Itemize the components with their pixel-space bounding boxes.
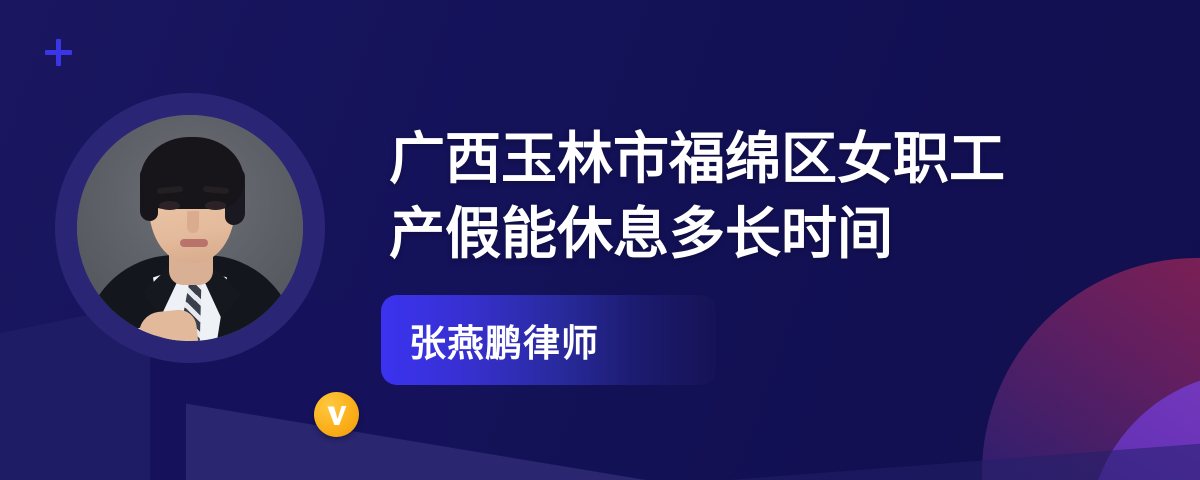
portrait-eye-left (159, 201, 180, 210)
verified-v-icon (314, 392, 359, 437)
avatar-photo (77, 115, 303, 341)
plus-icon-bar-vertical (56, 39, 61, 66)
avatar (55, 93, 325, 363)
banner-canvas: 广西玉林市福绵区女职工 产假能休息多长时间 张燕鹏律师 (0, 0, 1200, 480)
portrait-eye-right (205, 201, 226, 210)
author-badge: 张燕鹏律师 (381, 295, 716, 385)
author-name: 张燕鹏律师 (409, 313, 599, 367)
plus-icon (45, 39, 72, 66)
portrait-hair (140, 137, 244, 209)
portrait-mouth (180, 239, 208, 247)
portrait-nose (187, 211, 199, 233)
page-title: 广西玉林市福绵区女职工 产假能休息多长时间 (389, 121, 1089, 271)
